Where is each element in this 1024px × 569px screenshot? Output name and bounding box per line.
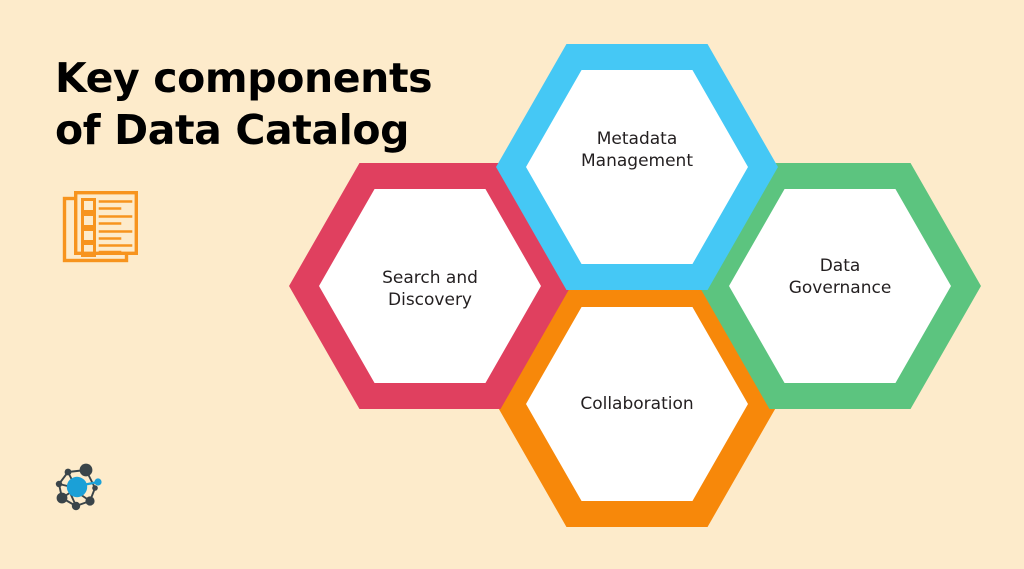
document-checklist-icon xyxy=(62,188,146,268)
hexagon-shape xyxy=(511,57,763,277)
page-title: Key components of Data Catalog xyxy=(55,52,475,157)
network-nodes-logo xyxy=(52,458,110,516)
hexagon-metadata-management[interactable]: Metadata Management xyxy=(511,57,763,277)
slide-canvas: Key components of Data Catalog xyxy=(0,0,1024,569)
